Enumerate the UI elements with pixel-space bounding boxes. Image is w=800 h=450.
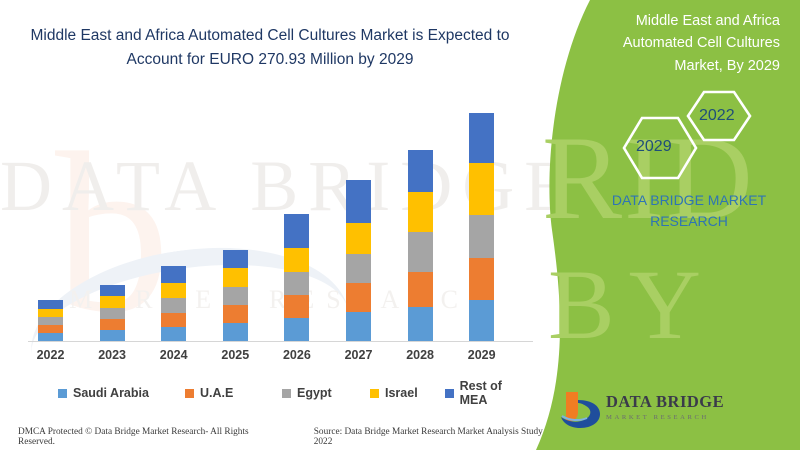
x-axis-label-2027: 2027 <box>329 348 389 362</box>
bar-segment-rest-of-mea-2024 <box>161 266 186 283</box>
bar-segment-israel-2028 <box>408 192 433 232</box>
bar-segment-rest-of-mea-2027 <box>346 180 371 223</box>
legend-label: Israel <box>385 386 418 400</box>
legend-label: Rest of MEA <box>460 379 530 407</box>
bar-2028 <box>408 150 433 341</box>
bar-segment-saudi-arabia-2023 <box>100 330 125 341</box>
x-axis-label-2024: 2024 <box>144 348 204 362</box>
legend-label: U.A.E <box>200 386 233 400</box>
legend-item-egypt[interactable]: Egypt <box>282 386 332 400</box>
x-axis-label-2025: 2025 <box>205 348 265 362</box>
hexagon-label-2029: 2029 <box>636 138 672 156</box>
x-axis-label-2022: 2022 <box>21 348 81 362</box>
hexagon-label-2022: 2022 <box>699 107 735 125</box>
bar-2027 <box>346 180 371 341</box>
bar-segment-rest-of-mea-2022 <box>38 300 63 309</box>
legend-label: Saudi Arabia <box>73 386 149 400</box>
x-axis-label-2029: 2029 <box>452 348 512 362</box>
legend-item-saudi-arabia[interactable]: Saudi Arabia <box>58 386 149 400</box>
legend-swatch-icon <box>370 389 379 398</box>
bar-segment-israel-2029 <box>469 163 494 215</box>
bar-segment-saudi-arabia-2028 <box>408 307 433 341</box>
footer-source: Source: Data Bridge Market Research Mark… <box>314 427 558 447</box>
logo-mark-icon <box>560 388 604 434</box>
bar-segment-rest-of-mea-2025 <box>223 250 248 268</box>
bar-segment-israel-2025 <box>223 268 248 287</box>
bar-segment-u-a-e-2028 <box>408 272 433 307</box>
bar-segment-u-a-e-2029 <box>469 258 494 300</box>
chart-legend: Saudi ArabiaU.A.EEgyptIsraelRest of MEA <box>40 383 530 403</box>
bar-segment-u-a-e-2023 <box>100 319 125 330</box>
legend-label: Egypt <box>297 386 332 400</box>
legend-swatch-icon <box>282 389 291 398</box>
bar-2029 <box>469 113 494 341</box>
bar-segment-israel-2024 <box>161 283 186 298</box>
bar-2023 <box>100 285 125 341</box>
logo-text-block: DATA BRIDGE MARKET RESEARCH <box>606 394 724 421</box>
bar-segment-israel-2022 <box>38 309 63 317</box>
bar-segment-rest-of-mea-2029 <box>469 113 494 163</box>
bar-2024 <box>161 266 186 341</box>
bar-segment-egypt-2022 <box>38 317 63 325</box>
legend-item-israel[interactable]: Israel <box>370 386 418 400</box>
bar-segment-saudi-arabia-2025 <box>223 323 248 341</box>
green-panel-title: Middle East and Africa Automated Cell Cu… <box>580 10 780 77</box>
logo-subtitle: MARKET RESEARCH <box>606 415 724 422</box>
bar-segment-egypt-2024 <box>161 298 186 313</box>
hexagon-shapes <box>600 88 790 180</box>
bar-segment-u-a-e-2024 <box>161 313 186 327</box>
bar-segment-egypt-2028 <box>408 232 433 272</box>
x-axis-label-2028: 2028 <box>390 348 450 362</box>
bar-2025 <box>223 250 248 341</box>
x-axis-line <box>28 341 533 342</box>
x-axis-label-2023: 2023 <box>82 348 142 362</box>
bar-segment-egypt-2025 <box>223 287 248 305</box>
bar-segment-egypt-2027 <box>346 254 371 283</box>
legend-swatch-icon <box>185 389 194 398</box>
bar-segment-saudi-arabia-2027 <box>346 312 371 341</box>
bar-segment-u-a-e-2025 <box>223 305 248 323</box>
bar-segment-saudi-arabia-2026 <box>284 318 309 341</box>
bar-segment-u-a-e-2026 <box>284 295 309 318</box>
footer-copyright: DMCA Protected © Data Bridge Market Rese… <box>18 427 282 447</box>
bar-2022 <box>38 300 63 341</box>
bar-segment-rest-of-mea-2028 <box>408 150 433 192</box>
bar-2026 <box>284 214 309 341</box>
infographic-page: b DATA BRIDGE MARKET RESEARCH Middle Eas… <box>0 0 800 450</box>
data-bridge-logo: DATA BRIDGE MARKET RESEARCH <box>560 388 730 434</box>
bar-segment-egypt-2023 <box>100 308 125 319</box>
bar-segment-israel-2027 <box>346 223 371 254</box>
footer: DMCA Protected © Data Bridge Market Rese… <box>18 427 558 447</box>
bar-segment-israel-2026 <box>284 248 309 272</box>
bar-segment-egypt-2029 <box>469 215 494 258</box>
bar-segment-egypt-2026 <box>284 272 309 295</box>
green-panel-brand: DATA BRIDGE MARKET RESEARCH <box>594 190 784 232</box>
legend-swatch-icon <box>58 389 67 398</box>
x-axis-label-2026: 2026 <box>267 348 327 362</box>
bar-segment-saudi-arabia-2022 <box>38 333 63 341</box>
bar-segment-saudi-arabia-2029 <box>469 300 494 341</box>
logo-title: DATA BRIDGE <box>606 394 724 411</box>
bar-segment-rest-of-mea-2023 <box>100 285 125 296</box>
bar-segment-saudi-arabia-2024 <box>161 327 186 341</box>
bar-segment-rest-of-mea-2026 <box>284 214 309 248</box>
bar-segment-u-a-e-2022 <box>38 325 63 333</box>
bar-segment-u-a-e-2027 <box>346 283 371 312</box>
legend-item-u-a-e[interactable]: U.A.E <box>185 386 233 400</box>
hexagon-group: 2022 2029 <box>600 88 790 178</box>
legend-item-rest-of-mea[interactable]: Rest of MEA <box>445 379 530 407</box>
legend-swatch-icon <box>445 389 454 398</box>
bar-segment-israel-2023 <box>100 296 125 308</box>
green-panel: RID BY Middle East and Africa Automated … <box>528 0 800 450</box>
